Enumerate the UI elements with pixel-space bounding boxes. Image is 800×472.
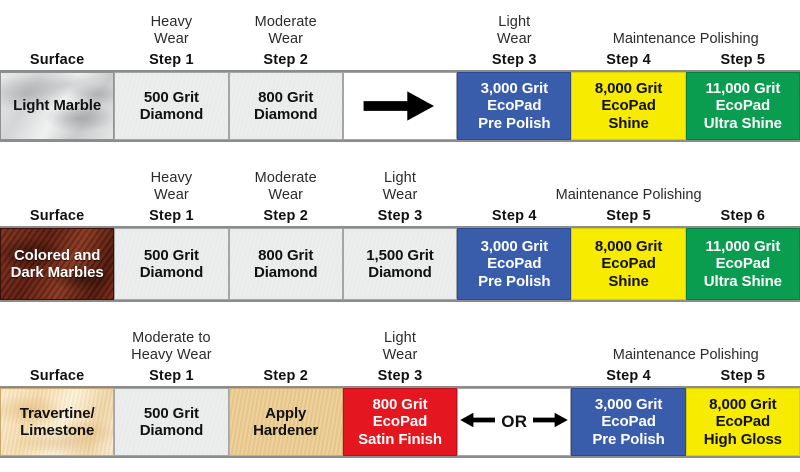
wear-label-line: Moderate [255, 14, 317, 31]
step-label-step-3: Step 3 [343, 204, 457, 226]
step-cell-11-000-grit[interactable]: 11,000 GritEcoPadUltra Shine [686, 72, 800, 140]
maintenance-polishing-label: Maintenance Polishing [457, 160, 800, 204]
wear-label-line: Wear [497, 31, 532, 48]
wear-label: Moderate toHeavy Wear [114, 320, 228, 364]
cell-line: Ultra Shine [704, 115, 782, 132]
step-label-row: SurfaceStep 1Step 2Step 3Step 4Step 5 [0, 48, 800, 70]
cell-line: EcoPad [601, 97, 655, 114]
cell-line: 800 Grit [258, 89, 313, 106]
surface-swatch-light-marble[interactable]: Light Marble [0, 72, 114, 140]
cell-line: 500 Grit [144, 89, 199, 106]
maintenance-polishing-label: Maintenance Polishing [571, 320, 800, 364]
step-label-step-1: Step 1 [114, 204, 228, 226]
step-label-step-4: Step 4 [571, 364, 685, 386]
cell-line: Satin Finish [358, 431, 442, 448]
step-cell-800-grit[interactable]: 800 GritDiamond [229, 72, 343, 140]
wear-label: HeavyWear [114, 160, 228, 204]
arrow-left-icon [459, 407, 495, 437]
wear-label-line: Light [384, 330, 416, 347]
arrow-right-icon [533, 407, 569, 437]
wear-label-row: HeavyWearModerateWearLightWearMaintenanc… [0, 4, 800, 48]
step-cell-apply[interactable]: ApplyHardener [229, 388, 343, 456]
or-label: OR [501, 412, 527, 431]
cell-line: Diamond [368, 264, 431, 281]
cell-line: Diamond [140, 264, 203, 281]
cell-line: EcoPad [487, 97, 541, 114]
cell-line: EcoPad [487, 255, 541, 272]
step-cell-1-500-grit[interactable]: 1,500 GritDiamond [343, 228, 457, 300]
cell-line: 11,000 Grit [705, 80, 780, 97]
wear-label-line: Wear [383, 187, 418, 204]
step-label-row: SurfaceStep 1Step 2Step 3Step 4Step 5 [0, 364, 800, 386]
cell-line: Pre Polish [478, 115, 550, 132]
arrow-right-icon [343, 72, 457, 140]
step-cell-band: Travertine/Limestone500 GritDiamondApply… [0, 386, 800, 458]
cell-line: Ultra Shine [704, 273, 782, 290]
cell-line: Colored and [14, 247, 100, 264]
cell-line: EcoPad [601, 255, 655, 272]
cell-line: Diamond [254, 264, 317, 281]
wear-label-row: Moderate toHeavy WearLightWearMaintenanc… [0, 320, 800, 364]
step-cell-500-grit[interactable]: 500 GritDiamond [114, 72, 228, 140]
wear-label: ModerateWear [229, 160, 343, 204]
cell-line: Dark Marbles [11, 264, 104, 281]
step-label-step-4: Step 4 [457, 204, 571, 226]
step-label-row: SurfaceStep 1Step 2Step 3Step 4Step 5Ste… [0, 204, 800, 226]
step-cell-8-000-grit[interactable]: 8,000 GritEcoPadHigh Gloss [686, 388, 800, 456]
cell-line: Pre Polish [478, 273, 550, 290]
step-cell-3-000-grit[interactable]: 3,000 GritEcoPadPre Polish [457, 228, 571, 300]
wear-label: LightWear [343, 320, 457, 364]
step-label-surface: Surface [0, 48, 114, 70]
cell-line: 3,000 Grit [481, 238, 548, 255]
wear-label: ModerateWear [229, 4, 343, 48]
cell-line: 500 Grit [144, 247, 199, 264]
step-cell-500-grit[interactable]: 500 GritDiamond [114, 388, 228, 456]
cell-line: EcoPad [601, 413, 655, 430]
wear-label-line: Wear [154, 31, 189, 48]
surface-row-1: HeavyWearModerateWearLightWearMaintenanc… [0, 4, 800, 160]
cell-line: Hardener [253, 422, 318, 439]
step-cell-8-000-grit[interactable]: 8,000 GritEcoPadShine [571, 72, 685, 140]
cell-line: 11,000 Grit [705, 238, 780, 255]
cell-line: EcoPad [373, 413, 427, 430]
wear-label-line: Wear [268, 31, 303, 48]
cell-line: 8,000 Grit [709, 396, 776, 413]
surface-row-3: Moderate toHeavy WearLightWearMaintenanc… [0, 320, 800, 472]
step-label-surface: Surface [0, 364, 114, 386]
cell-line: Apply [265, 405, 306, 422]
step-cell-3-000-grit[interactable]: 3,000 GritEcoPadPre Polish [571, 388, 685, 456]
cell-line: 3,000 Grit [481, 80, 548, 97]
step-label-step-4: Step 4 [571, 48, 685, 70]
step-label-surface: Surface [0, 204, 114, 226]
cell-line: 8,000 Grit [595, 80, 662, 97]
surface-swatch-dark-marble[interactable]: Colored andDark Marbles [0, 228, 114, 300]
step-label-step-1: Step 1 [114, 48, 228, 70]
step-cell-8-000-grit[interactable]: 8,000 GritEcoPadShine [571, 228, 685, 300]
cell-line: Pre Polish [592, 431, 664, 448]
row-spacer [0, 142, 800, 160]
cell-line: High Gloss [704, 431, 782, 448]
wear-label-line: Light [384, 170, 416, 187]
cell-line: 1,500 Grit [366, 247, 433, 264]
cell-line: 500 Grit [144, 405, 199, 422]
wear-label-row: HeavyWearModerateWearLightWearMaintenanc… [0, 160, 800, 204]
step-label-step-2: Step 2 [229, 204, 343, 226]
wear-label-line: Moderate to [132, 330, 210, 347]
step-label-step-2: Step 2 [229, 364, 343, 386]
cell-line: Diamond [254, 106, 317, 123]
cell-line: 800 Grit [258, 247, 313, 264]
wear-label-line: Wear [268, 187, 303, 204]
wear-label-line: Moderate [255, 170, 317, 187]
cell-line: Light Marble [13, 97, 101, 114]
cell-line: Shine [608, 273, 648, 290]
wear-label: HeavyWear [114, 4, 228, 48]
step-label-step-3: Step 3 [457, 48, 571, 70]
cell-line: Travertine/ [20, 405, 95, 422]
or-connector: OR [457, 388, 571, 456]
polishing-step-chart: HeavyWearModerateWearLightWearMaintenanc… [0, 0, 800, 455]
cell-line: 3,000 Grit [595, 396, 662, 413]
step-label-step-5: Step 5 [686, 364, 800, 386]
surface-row-2: HeavyWearModerateWearLightWearMaintenanc… [0, 160, 800, 320]
row-spacer [0, 458, 800, 472]
cell-line: EcoPad [716, 413, 770, 430]
cell-line: Diamond [140, 106, 203, 123]
step-label-step-6: Step 6 [686, 204, 800, 226]
cell-line: 8,000 Grit [595, 238, 662, 255]
chart-rows: HeavyWearModerateWearLightWearMaintenanc… [0, 4, 800, 472]
step-cell-500-grit[interactable]: 500 GritDiamond [114, 228, 228, 300]
step-cell-800-grit[interactable]: 800 GritEcoPadSatin Finish [343, 388, 457, 456]
step-cell-800-grit[interactable]: 800 GritDiamond [229, 228, 343, 300]
step-label-step-5: Step 5 [571, 204, 685, 226]
maintenance-polishing-label: Maintenance Polishing [571, 4, 800, 48]
step-cell-band: Colored andDark Marbles500 GritDiamond80… [0, 226, 800, 302]
step-label-step-5: Step 5 [686, 48, 800, 70]
cell-line: EcoPad [716, 97, 770, 114]
wear-label: LightWear [457, 4, 571, 48]
surface-swatch-travertine[interactable]: Travertine/Limestone [0, 388, 114, 456]
step-label-step-3: Step 3 [343, 364, 457, 386]
cell-line: EcoPad [716, 255, 770, 272]
step-label-step-2: Step 2 [229, 48, 343, 70]
row-spacer [0, 302, 800, 320]
wear-label-line: Wear [383, 347, 418, 364]
wear-label: LightWear [343, 160, 457, 204]
step-cell-3-000-grit[interactable]: 3,000 GritEcoPadPre Polish [457, 72, 571, 140]
step-cell-11-000-grit[interactable]: 11,000 GritEcoPadUltra Shine [686, 228, 800, 300]
wear-label-line: Heavy [151, 170, 193, 187]
wear-label-line: Light [498, 14, 530, 31]
step-cell-band: Light Marble500 GritDiamond800 GritDiamo… [0, 70, 800, 142]
cell-line: Diamond [140, 422, 203, 439]
wear-label-line: Heavy Wear [131, 347, 212, 364]
wear-label-line: Heavy [151, 14, 193, 31]
cell-line: Limestone [20, 422, 94, 439]
cell-line: Shine [608, 115, 648, 132]
cell-line: 800 Grit [372, 396, 427, 413]
step-label-step-1: Step 1 [114, 364, 228, 386]
wear-label-line: Wear [154, 187, 189, 204]
